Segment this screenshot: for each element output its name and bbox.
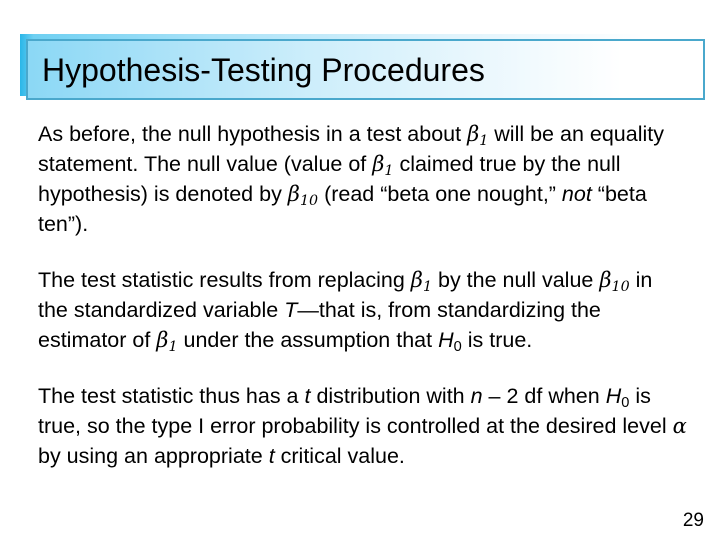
math-symbol: β1 xyxy=(467,122,488,146)
math-symbol: β1 xyxy=(156,328,177,352)
body-text-run: The test statistic thus has a xyxy=(38,384,304,408)
math-variable: H0 xyxy=(606,384,630,408)
body-text-run: by using an appropriate xyxy=(38,444,269,468)
page-number: 29 xyxy=(683,510,704,532)
math-symbol: β10 xyxy=(599,268,629,292)
math-symbol: β1 xyxy=(411,268,432,292)
subscript: 1 xyxy=(423,279,432,295)
body-paragraph-3: The test statistic thus has a t distribu… xyxy=(38,381,688,471)
math-variable: not xyxy=(562,182,592,206)
body-text-run: distribution with xyxy=(310,384,470,408)
math-symbol: α xyxy=(673,414,687,438)
body-paragraph-2: The test statistic results from replacin… xyxy=(38,265,688,355)
math-symbol: β1 xyxy=(372,152,393,176)
math-variable: n xyxy=(471,384,483,408)
body-text-run: is true. xyxy=(462,328,533,352)
subscript: 0 xyxy=(454,339,462,355)
body-text-run: – 2 df when xyxy=(483,384,606,408)
body-text-run: by the null value xyxy=(432,268,599,292)
math-variable: T xyxy=(284,298,297,322)
subscript: 10 xyxy=(300,193,318,209)
body-paragraph-1: As before, the null hypothesis in a test… xyxy=(38,119,688,239)
slide-canvas: Hypothesis-Testing Procedures As before,… xyxy=(0,0,720,540)
body-text-run: The test statistic results from replacin… xyxy=(38,268,411,292)
math-symbol: β10 xyxy=(288,182,318,206)
subscript: 10 xyxy=(612,279,630,295)
slide-body: As before, the null hypothesis in a test… xyxy=(38,119,688,471)
page-title: Hypothesis-Testing Procedures xyxy=(42,52,485,88)
math-variable: H0 xyxy=(438,328,462,352)
slide-title-block: Hypothesis-Testing Procedures xyxy=(20,34,706,104)
body-text-run: (read “beta one nought,” xyxy=(318,182,562,206)
body-text-run: As before, the null hypothesis in a test… xyxy=(38,122,467,146)
title-frame: Hypothesis-Testing Procedures xyxy=(26,39,705,100)
subscript: 1 xyxy=(479,133,488,149)
subscript: 1 xyxy=(168,339,177,355)
body-text-run: critical value. xyxy=(275,444,405,468)
body-text-run: under the assumption that xyxy=(178,328,439,352)
